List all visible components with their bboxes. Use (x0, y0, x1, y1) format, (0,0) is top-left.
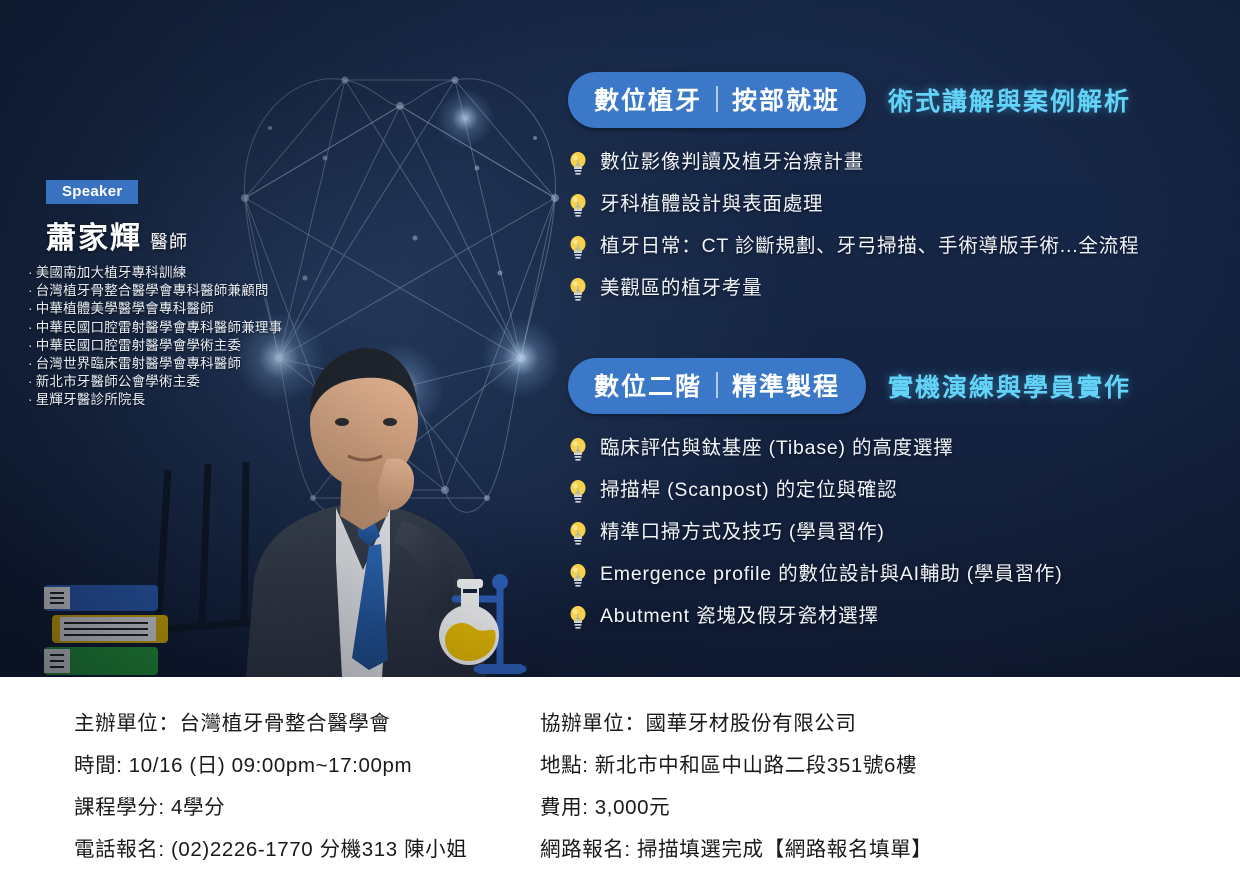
bulb-icon (568, 437, 588, 461)
footer-line: 費用: 3,000元 (540, 787, 1010, 829)
section-header: 數位二階 精準製程 實機演練與學員實作 (568, 358, 1228, 414)
bullet-dot-icon: · (28, 392, 33, 407)
credential-item: ·星輝牙醫診所院長 (28, 391, 328, 409)
bulb-icon (568, 277, 588, 301)
bullet-dot-icon: · (28, 374, 33, 389)
bullet-label: 精準口掃方式及技巧 (學員習作) (600, 520, 885, 544)
bulb-icon (568, 479, 588, 503)
footer-line: 地點: 新北市中和區中山路二段351號6樓 (540, 745, 1010, 787)
credential-item: ·中華民國口腔雷射醫學會專科醫師兼理事 (28, 319, 328, 337)
credential-label: 星輝牙醫診所院長 (36, 392, 146, 407)
section-pill: 數位二階 精準製程 (568, 358, 866, 414)
bulb-icon (568, 521, 588, 545)
pill-right-label: 精準製程 (732, 367, 840, 403)
credential-label: 台灣植牙骨整合醫學會專科醫師兼顧問 (36, 283, 269, 298)
books-stack-icon (30, 583, 170, 677)
pill-left-label: 數位植牙 (594, 81, 702, 117)
bulb-icon (568, 563, 588, 587)
bulb-icon (568, 479, 588, 503)
section-digital-stage-two: 數位二階 精準製程 實機演練與學員實作 臨床評估與鈦基座 (Tibase) 的高… (568, 358, 1228, 646)
bullet-dot-icon: · (28, 301, 33, 316)
speaker-name-row: 蕭家輝醫師 (46, 213, 346, 257)
bullet-label: 牙科植體設計與表面處理 (600, 192, 823, 216)
credential-label: 中華植體美學醫學會專科醫師 (36, 301, 214, 316)
bullet-dot-icon: · (28, 283, 33, 298)
section-bullet-list: 數位影像判讀及植牙治療計畫牙科植體設計與表面處理植牙日常：CT 診斷規劃、牙弓掃… (568, 150, 1228, 301)
credential-label: 新北市牙醫師公會學術主委 (36, 374, 200, 389)
footer-line: 電話報名: (02)2226-1770 分機313 陳小姐 (74, 829, 534, 871)
section-bullet-list: 臨床評估與鈦基座 (Tibase) 的高度選擇掃描桿 (Scanpost) 的定… (568, 436, 1228, 629)
bulb-icon (568, 151, 588, 175)
bulb-icon (568, 521, 588, 545)
bullet-label: 數位影像判讀及植牙治療計畫 (600, 150, 864, 174)
credential-item: ·中華植體美學醫學會專科醫師 (28, 300, 328, 318)
bullet-dot-icon: · (28, 338, 33, 353)
bulb-icon (568, 235, 588, 259)
footer-line: 協辦單位：國華牙材股份有限公司 (540, 703, 1010, 745)
bullet-label: 美觀區的植牙考量 (600, 276, 762, 300)
pill-right-label: 按部就班 (732, 81, 840, 117)
credential-label: 美國南加大植牙專科訓練 (36, 265, 187, 280)
speaker-tag: Speaker (46, 180, 138, 204)
bullet-item: Abutment 瓷塊及假牙瓷材選擇 (568, 604, 1228, 629)
footer-panel: 主辦單位：台灣植牙骨整合醫學會時間: 10/16 (日) 09:00pm~17:… (0, 677, 1240, 877)
bulb-icon (568, 151, 588, 175)
bullet-label: 掃描桿 (Scanpost) 的定位與確認 (600, 478, 897, 502)
poster-root: Speaker 蕭家輝醫師 ·美國南加大植牙專科訓練·台灣植牙骨整合醫學會專科醫… (0, 0, 1240, 877)
bulb-icon (568, 193, 588, 217)
footer-line: 主辦單位：台灣植牙骨整合醫學會 (74, 703, 534, 745)
credential-item: ·台灣世界臨床雷射醫學會專科醫師 (28, 355, 328, 373)
pill-left-label: 數位二階 (594, 367, 702, 403)
credential-item: ·台灣植牙骨整合醫學會專科醫師兼顧問 (28, 282, 328, 300)
bulb-icon (568, 563, 588, 587)
bullet-dot-icon: · (28, 320, 33, 335)
bulb-icon (568, 605, 588, 629)
bullet-item: 美觀區的植牙考量 (568, 276, 1228, 301)
footer-line: 網路報名: 掃描填選完成【網路報名填單】 (540, 829, 1010, 871)
section-header: 數位植牙 按部就班 術式講解與案例解析 (568, 72, 1228, 128)
credential-item: ·中華民國口腔雷射醫學會學術主委 (28, 337, 328, 355)
bullet-dot-icon: · (28, 356, 33, 371)
footer-column-left: 主辦單位：台灣植牙骨整合醫學會時間: 10/16 (日) 09:00pm~17:… (74, 703, 534, 871)
bulb-icon (568, 605, 588, 629)
credentials-list: ·美國南加大植牙專科訓練·台灣植牙骨整合醫學會專科醫師兼顧問·中華植體美學醫學會… (28, 264, 328, 410)
speaker-title: 醫師 (150, 232, 188, 252)
bullet-label: Emergence profile 的數位設計與AI輔助 (學員習作) (600, 562, 1063, 586)
credential-label: 台灣世界臨床雷射醫學會專科醫師 (36, 356, 242, 371)
section-subtitle: 術式講解與案例解析 (888, 82, 1131, 118)
bullet-item: 植牙日常：CT 診斷規劃、牙弓掃描、手術導版手術...全流程 (568, 234, 1228, 259)
bulb-icon (568, 193, 588, 217)
footer-line: 課程學分: 4學分 (74, 787, 534, 829)
bullet-item: 精準口掃方式及技巧 (學員習作) (568, 520, 1228, 545)
bullet-item: 牙科植體設計與表面處理 (568, 192, 1228, 217)
bullet-label: Abutment 瓷塊及假牙瓷材選擇 (600, 604, 879, 628)
footer-column-right: 協辦單位：國華牙材股份有限公司地點: 新北市中和區中山路二段351號6樓費用: … (540, 703, 1010, 871)
bullet-dot-icon: · (28, 265, 33, 280)
footer-line: 時間: 10/16 (日) 09:00pm~17:00pm (74, 745, 534, 787)
credential-label: 中華民國口腔雷射醫學會學術主委 (36, 338, 242, 353)
credential-item: ·美國南加大植牙專科訓練 (28, 264, 328, 282)
speaker-name: 蕭家輝 (46, 222, 142, 255)
bullet-item: 臨床評估與鈦基座 (Tibase) 的高度選擇 (568, 436, 1228, 461)
bullet-item: 數位影像判讀及植牙治療計畫 (568, 150, 1228, 175)
bullet-item: Emergence profile 的數位設計與AI輔助 (學員習作) (568, 562, 1228, 587)
pill-separator (716, 86, 718, 112)
section-subtitle: 實機演練與學員實作 (888, 368, 1131, 404)
section-digital-implant: 數位植牙 按部就班 術式講解與案例解析 數位影像判讀及植牙治療計畫牙科植體設計與… (568, 72, 1228, 318)
bulb-icon (568, 235, 588, 259)
bullet-label: 植牙日常：CT 診斷規劃、牙弓掃描、手術導版手術...全流程 (600, 234, 1139, 258)
section-pill: 數位植牙 按部就班 (568, 72, 866, 128)
bulb-icon (568, 437, 588, 461)
speaker-block: Speaker 蕭家輝醫師 (46, 180, 346, 257)
bullet-item: 掃描桿 (Scanpost) 的定位與確認 (568, 478, 1228, 503)
credential-item: ·新北市牙醫師公會學術主委 (28, 373, 328, 391)
bullet-label: 臨床評估與鈦基座 (Tibase) 的高度選擇 (600, 436, 954, 460)
bulb-icon (568, 277, 588, 301)
hero-panel: Speaker 蕭家輝醫師 ·美國南加大植牙專科訓練·台灣植牙骨整合醫學會專科醫… (0, 0, 1240, 677)
lab-flask-icon (425, 565, 535, 677)
credential-label: 中華民國口腔雷射醫學會專科醫師兼理事 (36, 320, 283, 335)
pill-separator (716, 372, 718, 398)
